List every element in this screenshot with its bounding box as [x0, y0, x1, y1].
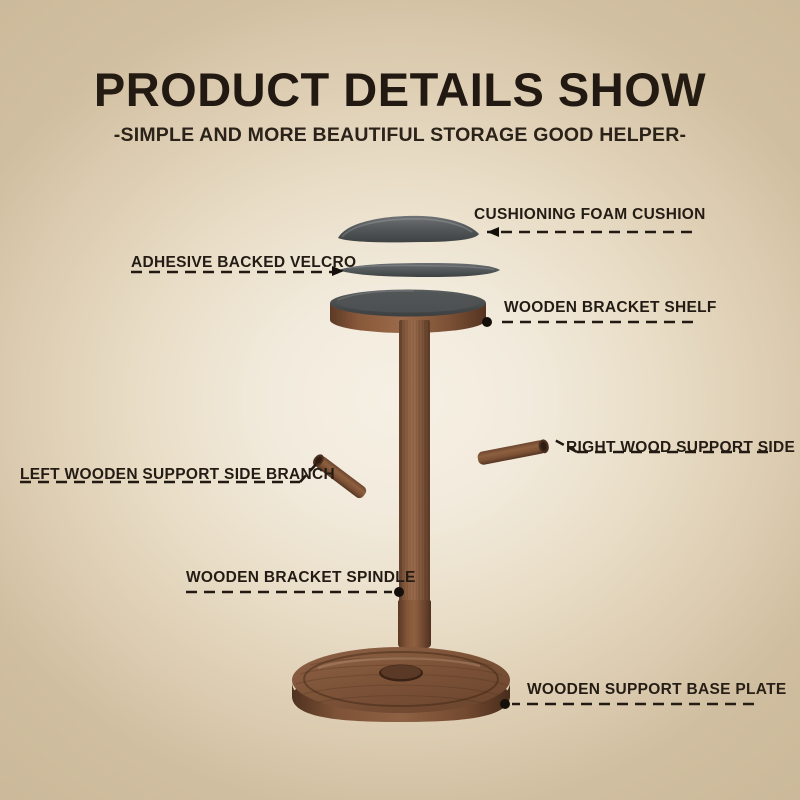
label-wooden-support-base-plate: WOODEN SUPPORT BASE PLATE [527, 681, 787, 699]
label-wooden-bracket-spindle: WOODEN BRACKET SPINDLE [186, 569, 416, 587]
page-subtitle: -SIMPLE AND MORE BEAUTIFUL STORAGE GOOD … [0, 124, 800, 147]
label-right-wood-support-side: RIGHT WOOD SUPPORT SIDE [566, 439, 795, 457]
label-wooden-bracket-shelf: WOODEN BRACKET SHELF [504, 299, 717, 317]
product-details-diagram: PRODUCT DETAILS SHOW -SIMPLE AND MORE BE… [0, 0, 800, 800]
base-plate-part [290, 640, 512, 724]
label-adhesive-backed-velcro: ADHESIVE BACKED VELCRO [131, 254, 356, 272]
leader-arrow-foam-cushion [487, 227, 499, 237]
label-cushioning-foam-cushion: CUSHIONING FOAM CUSHION [474, 206, 706, 224]
velcro-strip-part [336, 262, 502, 278]
foam-cushion-part [336, 214, 480, 244]
page-title: PRODUCT DETAILS SHOW [0, 62, 800, 117]
right-branch-part [475, 438, 551, 467]
label-left-wooden-support-side-branch: LEFT WOODEN SUPPORT SIDE BRANCH [20, 466, 335, 484]
